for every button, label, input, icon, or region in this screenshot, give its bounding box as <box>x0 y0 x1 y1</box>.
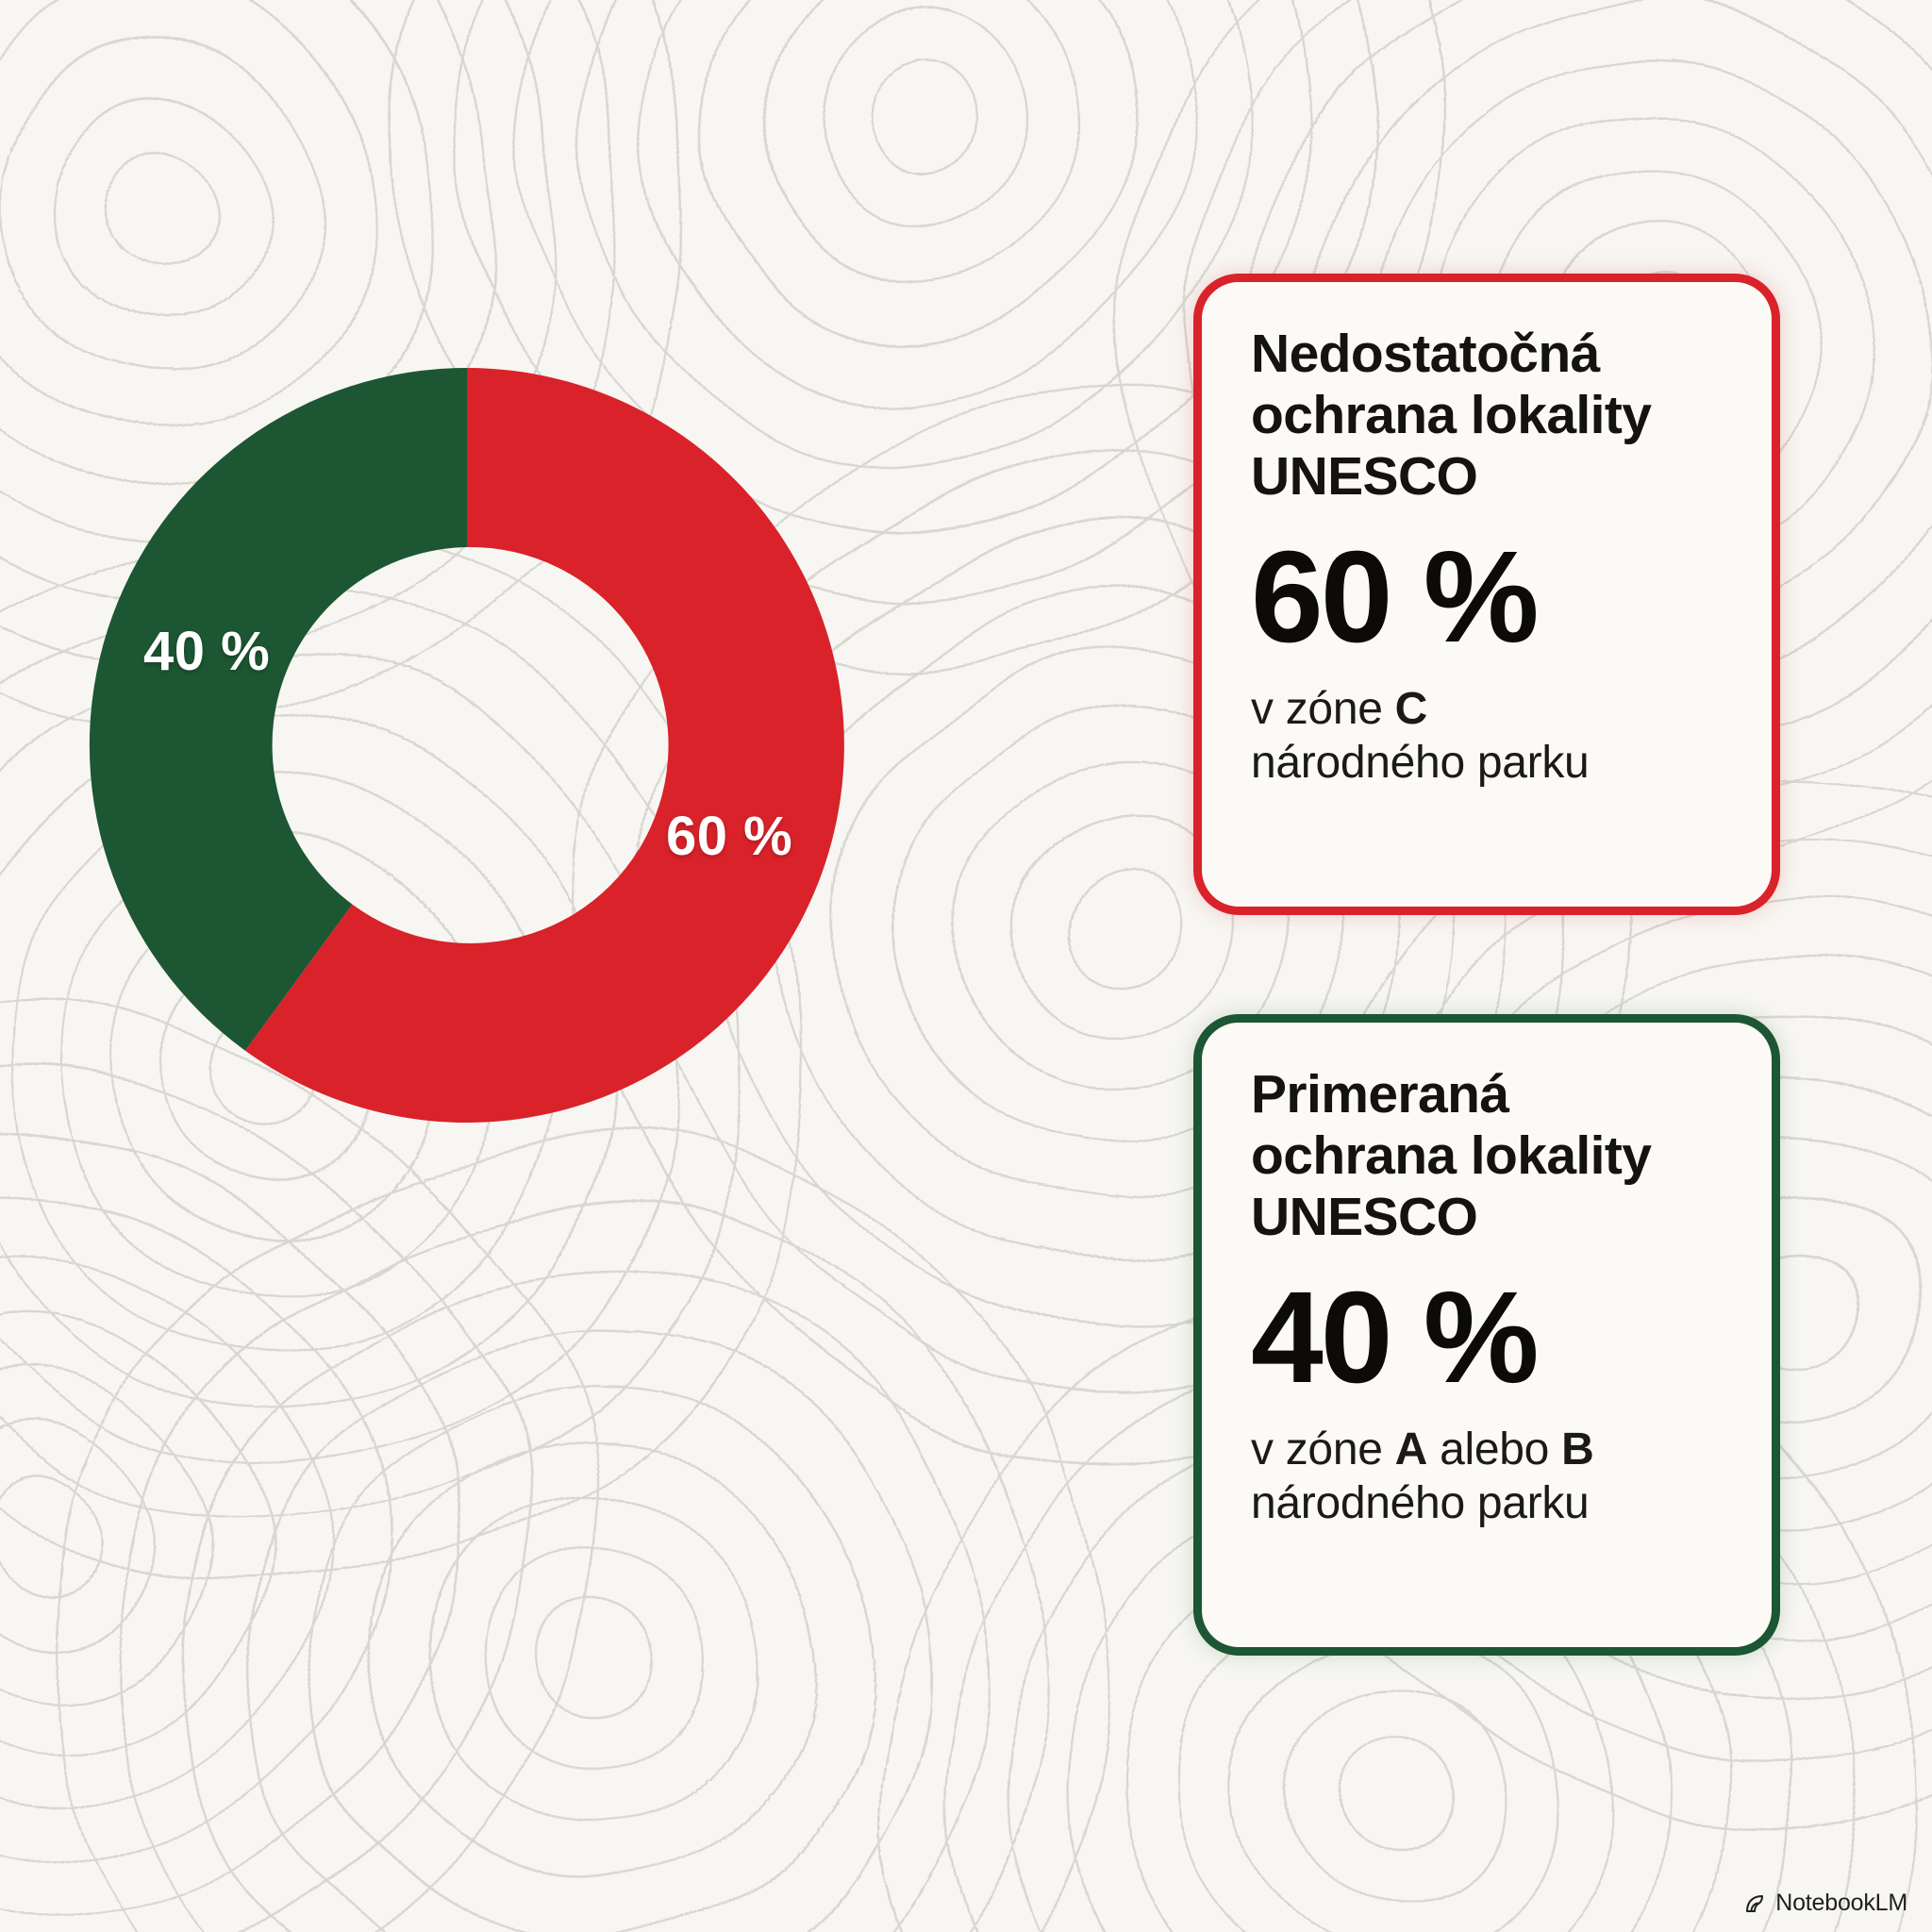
card-red-heading: Nedostatočná ochrana lokality UNESCO <box>1251 324 1723 508</box>
notebooklm-spiral-icon <box>1742 1891 1767 1916</box>
card-red-zone-primary: C <box>1395 684 1427 734</box>
card-red-sub-prefix: v zóne <box>1251 684 1395 734</box>
stat-card-adequate-protection[interactable]: Primeraná ochrana lokality UNESCO 40 % v… <box>1193 1014 1780 1656</box>
card-red-sub-line2: národného parku <box>1251 738 1589 788</box>
card-green-subtext: v zóne A alebo B národného parku <box>1251 1424 1723 1530</box>
card-red-subtext: v zóne C národného parku <box>1251 683 1723 790</box>
watermark-label: NotebookLM <box>1775 1890 1907 1917</box>
notebooklm-watermark: NotebookLM <box>1742 1890 1907 1917</box>
stat-card-insufficient-protection[interactable]: Nedostatočná ochrana lokality UNESCO 60 … <box>1193 274 1780 915</box>
card-green-sub-prefix: v zóne <box>1251 1424 1395 1474</box>
donut-label-green: 40 % <box>143 620 270 683</box>
card-red-figure: 60 % <box>1251 532 1723 662</box>
donut-chart: 40 % 60 % <box>85 363 849 1127</box>
card-green-sub-mid: alebo <box>1427 1424 1561 1474</box>
card-green-zone-primary: A <box>1395 1424 1427 1474</box>
card-green-sub-line2: národného parku <box>1251 1478 1589 1528</box>
card-green-figure: 40 % <box>1251 1273 1723 1403</box>
donut-label-red: 60 % <box>666 805 792 868</box>
card-green-heading: Primeraná ochrana lokality UNESCO <box>1251 1064 1723 1248</box>
infographic-canvas: 40 % 60 % Nedostatočná ochrana lokality … <box>0 0 1932 1932</box>
card-green-zone-secondary: B <box>1561 1424 1593 1474</box>
